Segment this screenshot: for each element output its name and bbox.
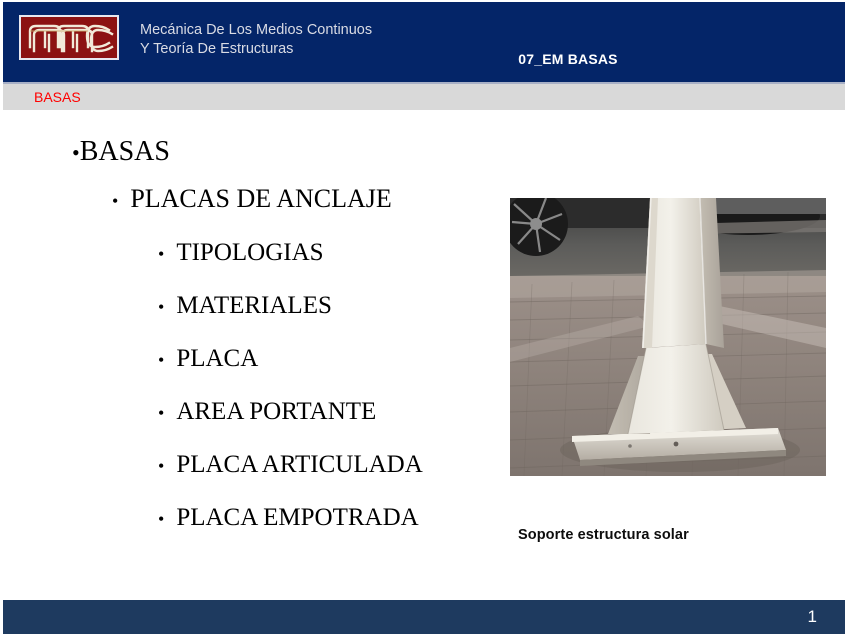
section-label: BASAS [34, 89, 81, 105]
list-item-label: TIPOLOGIAS [176, 227, 323, 278]
mmc-logo [19, 15, 119, 60]
bullet-dot: • [158, 441, 164, 492]
slide: Mecánica De Los Medios Continuos Y Teorí… [0, 0, 848, 636]
page-number: 1 [808, 607, 817, 627]
outline-list: •BASAS •PLACAS DE ANCLAJE •TIPOLOGIAS •M… [0, 132, 500, 545]
list-item: •BASAS [0, 132, 500, 173]
list-item: •PLACAS DE ANCLAJE [0, 173, 500, 227]
list-item-label: AREA PORTANTE [176, 386, 376, 437]
mmc-logo-mark [21, 17, 117, 58]
bullet-dot: • [158, 388, 164, 439]
list-item: •PLACA [0, 333, 500, 386]
bullet-dot: • [158, 282, 164, 333]
list-item-label: BASAS [80, 132, 170, 172]
bullet-dot: • [158, 494, 164, 545]
list-item: •TIPOLOGIAS [0, 227, 500, 280]
bullet-dot: • [158, 229, 164, 280]
photo-caption: Soporte estructura solar [518, 527, 818, 543]
bullet-dot: • [72, 133, 80, 173]
column-base-plate-photo [510, 198, 826, 476]
list-item: •AREA PORTANTE [0, 386, 500, 439]
slide-header: Mecánica De Los Medios Continuos Y Teorí… [3, 2, 845, 82]
section-bar: BASAS [3, 82, 845, 110]
bullet-dot: • [158, 335, 164, 386]
list-item-label: PLACA [176, 333, 258, 384]
slide-footer: 1 [3, 600, 845, 634]
bullet-dot: • [112, 176, 118, 227]
deck-title: 07_EM BASAS [403, 51, 733, 67]
list-item-label: PLACA ARTICULADA [176, 439, 422, 490]
list-item-label: PLACAS DE ANCLAJE [130, 173, 391, 224]
list-item: •PLACA ARTICULADA [0, 439, 500, 492]
list-item: •PLACA EMPOTRADA [0, 492, 500, 545]
list-item-label: PLACA EMPOTRADA [176, 492, 418, 543]
photo-content [510, 198, 826, 476]
list-item: •MATERIALES [0, 280, 500, 333]
list-item-label: MATERIALES [176, 280, 332, 331]
